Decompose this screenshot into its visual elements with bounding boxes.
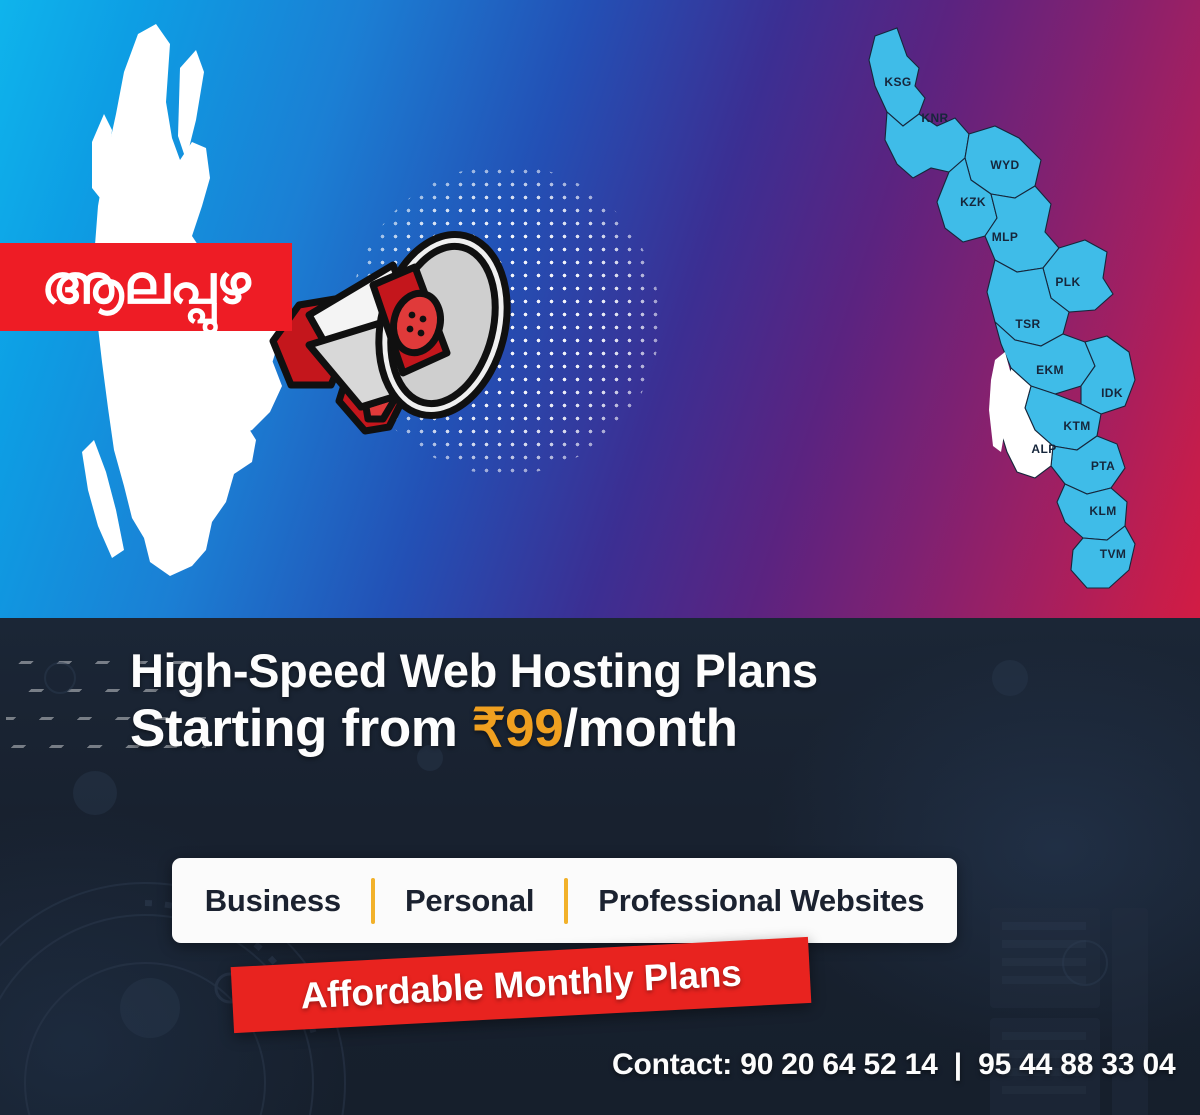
headline-primary: High-Speed Web Hosting Plans [130,646,970,696]
contact-line: Contact: 90 20 64 52 14 | 95 44 88 33 04 [612,1048,1175,1082]
hosting-promo-poster: ആലപ്പുഴ KSGKNRWYD [0,0,1200,1115]
category-professional[interactable]: Professional Websites [568,883,954,919]
headline-block: High-Speed Web Hosting Plans Starting fr… [130,646,970,757]
price-amount: ₹99 [472,699,563,758]
district-name-badge: ആലപ്പുഴ [0,243,292,331]
promo-panel: High-Speed Web Hosting Plans Starting fr… [0,618,1200,1115]
category-personal[interactable]: Personal [375,883,564,919]
hero-banner: ആലപ്പുഴ KSGKNRWYD [0,0,1200,618]
district-name-text: ആലപ്പുഴ [41,258,250,316]
kerala-district-map [845,22,1165,602]
ribbon-text: Affordable Monthly Plans [300,952,743,1017]
headline-prefix: Starting from [130,699,472,758]
contact-separator: | [946,1048,970,1081]
category-pill: Business Personal Professional Websites [172,858,957,943]
megaphone-icon [265,195,555,485]
contact-phone-1[interactable]: 90 20 64 52 14 [740,1048,937,1081]
headline-suffix: /month [563,699,737,758]
category-business[interactable]: Business [175,883,371,919]
contact-phone-2[interactable]: 95 44 88 33 04 [978,1048,1175,1081]
headline-secondary: Starting from ₹99/month [130,700,970,757]
contact-prefix: Contact: [612,1048,732,1081]
